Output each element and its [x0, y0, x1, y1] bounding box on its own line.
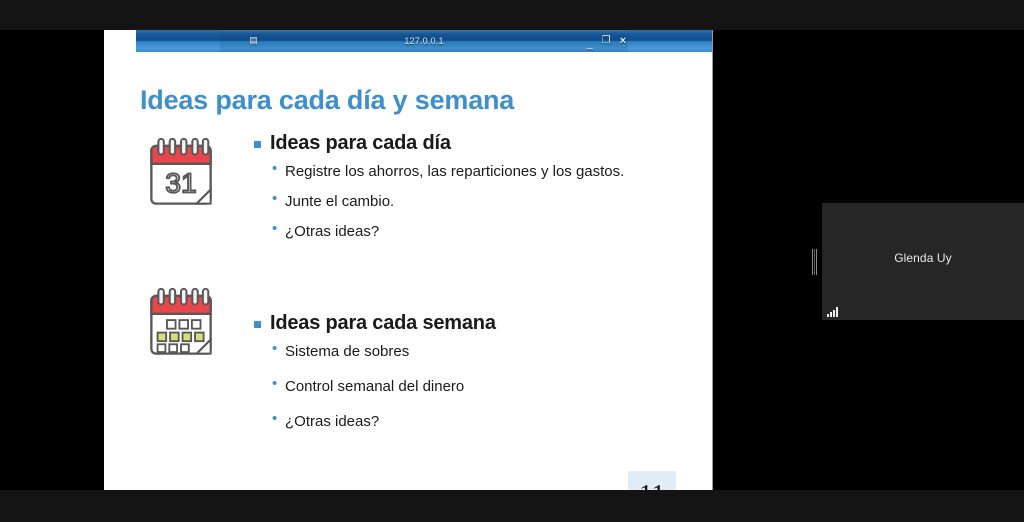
- list-item-text: Registre los ahorros, las reparticiones …: [285, 161, 624, 182]
- screen-share-viewport: 127.0.0.1 ▤ _ ❐ × Ideas para cada día y …: [0, 0, 1024, 522]
- block-heading: Ideas para cada semana: [270, 312, 496, 335]
- remote-window-titlebar[interactable]: 127.0.0.1 ▤ _ ❐ ×: [136, 30, 712, 52]
- list-item: • Control semanal del dinero: [272, 376, 654, 397]
- remote-desktop-icon: ▤: [248, 35, 259, 46]
- square-bullet-icon: [254, 321, 261, 328]
- calendar-week-icon: [142, 285, 220, 363]
- maximize-restore-button[interactable]: ❐: [602, 36, 611, 46]
- block-heading-row: Ideas para cada día: [254, 132, 654, 155]
- square-bullet-icon: [254, 141, 261, 148]
- list-item-text: Control semanal del dinero: [285, 376, 464, 397]
- page-number-badge: 11: [628, 471, 676, 490]
- list-item-text: Junte el cambio.: [285, 191, 394, 212]
- chrome-band-bottom: [0, 490, 1024, 522]
- list-item-text: ¿Otras ideas?: [285, 221, 379, 242]
- chrome-band-left: [0, 30, 104, 490]
- dot-bullet-icon: •: [272, 376, 278, 392]
- list-item: • ¿Otras ideas?: [272, 221, 654, 242]
- block-heading: Ideas para cada día: [270, 132, 451, 155]
- content-block-weekly: Ideas para cada semana • Sistema de sobr…: [254, 312, 654, 441]
- titlebar-center-panel: 127.0.0.1: [220, 30, 628, 52]
- window-title: 127.0.0.1: [404, 36, 443, 46]
- block-heading-row: Ideas para cada semana: [254, 312, 654, 335]
- participant-name: Glenda Uy: [822, 251, 1024, 265]
- list-item-text: ¿Otras ideas?: [285, 411, 379, 432]
- dot-bullet-icon: •: [272, 191, 278, 207]
- list-item: • Registre los ahorros, las reparticione…: [272, 161, 654, 182]
- list-item: • Sistema de sobres: [272, 341, 654, 362]
- panel-resize-handle[interactable]: [812, 249, 818, 275]
- list-item: • Junte el cambio.: [272, 191, 654, 212]
- list-item-text: Sistema de sobres: [285, 341, 409, 362]
- signal-bars-icon: [827, 306, 838, 317]
- svg-text:31: 31: [165, 168, 196, 199]
- list-item: • ¿Otras ideas?: [272, 411, 654, 432]
- dot-bullet-icon: •: [272, 161, 278, 177]
- chrome-band-top: [0, 0, 1024, 30]
- content-block-daily: Ideas para cada día • Registre los ahorr…: [254, 132, 654, 251]
- calendar-day-icon: 31: [142, 135, 220, 213]
- dot-bullet-icon: •: [272, 341, 278, 357]
- window-controls: _ ❐ ×: [586, 32, 626, 50]
- minimize-button[interactable]: _: [586, 39, 592, 50]
- page-title: Ideas para cada día y semana: [140, 85, 514, 116]
- close-button[interactable]: ×: [620, 36, 626, 47]
- participant-video-tile[interactable]: Glenda Uy: [822, 203, 1024, 320]
- dot-bullet-icon: •: [272, 221, 278, 237]
- dot-bullet-icon: •: [272, 411, 278, 427]
- presentation-slide: 127.0.0.1 ▤ _ ❐ × Ideas para cada día y …: [104, 30, 713, 490]
